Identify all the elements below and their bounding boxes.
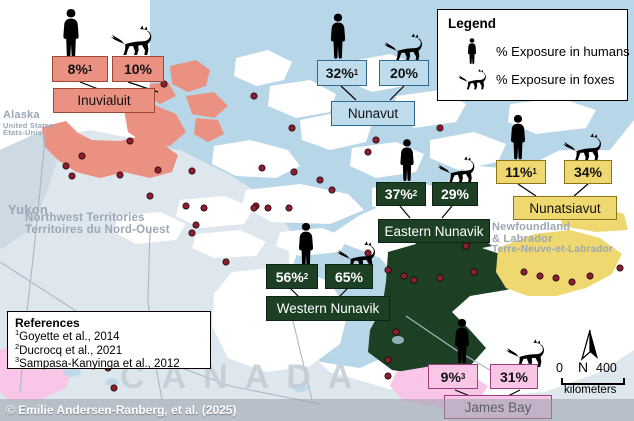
nunavut-name-box: Nunavut xyxy=(331,101,415,126)
fox-silhouette-icon xyxy=(562,132,602,162)
nwt-line1: Northwest Territories xyxy=(25,212,145,224)
reference-item-3: 3Sampasa-Kanyinga et al., 2012 xyxy=(15,358,203,372)
nunavut-human-pct-box: 32%1 xyxy=(317,60,367,86)
reference-text-3: Sampasa-Kanyinga et al., 2012 xyxy=(19,358,179,370)
legend-row-humans: % Exposure in humans xyxy=(448,36,630,66)
nunavut-fox-pct: 20% xyxy=(390,65,418,81)
map-label-newfoundland-labrador: Newfoundland & Labrador Terre-Neuve-et-L… xyxy=(492,222,613,256)
eastern-nunavik-human-pct-box: 37%2 xyxy=(376,182,426,206)
eastern-nunavik-human-pct: 37% xyxy=(385,186,413,202)
nfl-line1: Newfoundland xyxy=(492,221,570,233)
nunatsiavut-human-pct: 11% xyxy=(505,164,532,180)
western-nunavik-human-pct-box: 56%2 xyxy=(266,264,318,289)
north-label: N xyxy=(578,359,588,375)
scale-max: 400 xyxy=(596,361,617,375)
credit-bar: © Emilie Andersen-Ranberg, et al. (2025) xyxy=(0,399,634,421)
nunatsiavut-name-box: Nunatsiavut xyxy=(513,196,617,220)
scale-min: 0 xyxy=(556,361,563,375)
james-bay-human-pct-box: 9%3 xyxy=(428,364,478,389)
james-bay-fox-pct: 31% xyxy=(500,369,528,385)
james-bay-fox-pct-box: 31% xyxy=(490,364,538,389)
nunatsiavut-fox-pct: 34% xyxy=(574,164,602,180)
legend-row-foxes: % Exposure in foxes xyxy=(448,68,615,90)
human-silhouette-icon xyxy=(504,114,532,160)
scale-units: kilometers xyxy=(564,384,616,396)
legend-label-humans: % Exposure in humans xyxy=(496,44,630,59)
scale-bar: N 0 400 kilometers xyxy=(556,333,632,399)
references-box: References 1Goyette et al., 2014 2Ducroc… xyxy=(7,311,211,369)
eastern-nunavik-name-box: Eastern Nunavik xyxy=(378,219,490,243)
reference-text-1: Goyette et al., 2014 xyxy=(19,331,119,343)
nwt-line2: Territoires du Nord-Ouest xyxy=(25,224,170,236)
credit-text: © Emilie Andersen-Ranberg, et al. (2025) xyxy=(0,403,236,417)
inuvialuit-human-pct: 8% xyxy=(68,61,88,77)
human-silhouette-icon xyxy=(56,8,86,58)
alaska-line1: Alaska xyxy=(3,109,40,121)
inuvialuit-fox-pct-box: 10% xyxy=(112,56,164,82)
western-nunavik-name: Western Nunavik xyxy=(277,301,380,316)
legend-label-foxes: % Exposure in foxes xyxy=(496,72,615,87)
eastern-nunavik-fox-pct-box: 29% xyxy=(432,182,478,206)
eastern-nunavik-name: Eastern Nunavik xyxy=(384,224,483,239)
fox-silhouette-icon xyxy=(110,24,152,56)
nfl-line3: Terre-Neuve-et-Labrador xyxy=(492,245,613,256)
inuvialuit-fox-pct: 10% xyxy=(124,61,152,77)
reference-item-1: 1Goyette et al., 2014 xyxy=(15,331,203,345)
reference-item-2: 2Ducrocq et al., 2021 xyxy=(15,345,203,359)
north-arrow-icon xyxy=(570,329,610,363)
fox-silhouette-icon xyxy=(383,32,423,62)
nunavut-human-pct: 32% xyxy=(326,65,354,81)
reference-text-2: Ducrocq et al., 2021 xyxy=(19,345,122,357)
inuvialuit-name: Inuvialuit xyxy=(77,93,130,108)
legend-box: Legend % Exposure in humans % Exposure i… xyxy=(437,9,628,101)
map-label-northwest-territories: Northwest Territories Territoires du Nor… xyxy=(25,212,170,236)
human-silhouette-icon xyxy=(394,137,420,183)
nunavut-fox-pct-box: 20% xyxy=(379,60,429,86)
western-nunavik-human-pct: 56% xyxy=(276,269,304,285)
human-silhouette-icon xyxy=(324,12,352,60)
fox-silhouette-icon xyxy=(448,68,496,90)
legend-title: Legend xyxy=(448,16,496,31)
nunatsiavut-human-pct-box: 11%1 xyxy=(496,160,546,184)
eastern-nunavik-fox-pct: 29% xyxy=(441,186,469,202)
map-label-alaska: Alaska United States États-Unis xyxy=(3,110,54,137)
nunatsiavut-name: Nunatsiavut xyxy=(529,201,600,216)
western-nunavik-fox-pct: 65% xyxy=(335,269,363,285)
alaska-line3: États-Unis xyxy=(3,129,54,137)
western-nunavik-fox-pct-box: 65% xyxy=(325,264,373,289)
references-title: References xyxy=(15,316,203,330)
inuvialuit-human-pct-box: 8%1 xyxy=(52,56,108,82)
western-nunavik-name-box: Western Nunavik xyxy=(266,296,390,321)
human-silhouette-icon xyxy=(292,222,320,268)
inuvialuit-name-box: Inuvialuit xyxy=(53,88,155,113)
human-silhouette-icon xyxy=(448,36,496,66)
human-silhouette-icon xyxy=(448,318,476,364)
figure-root: Alaska United States États-Unis Yukon No… xyxy=(0,0,634,421)
fox-silhouette-icon xyxy=(437,155,475,184)
nunatsiavut-fox-pct-box: 34% xyxy=(564,160,612,184)
nunavut-name: Nunavut xyxy=(348,106,398,121)
james-bay-human-pct: 9% xyxy=(441,369,461,385)
